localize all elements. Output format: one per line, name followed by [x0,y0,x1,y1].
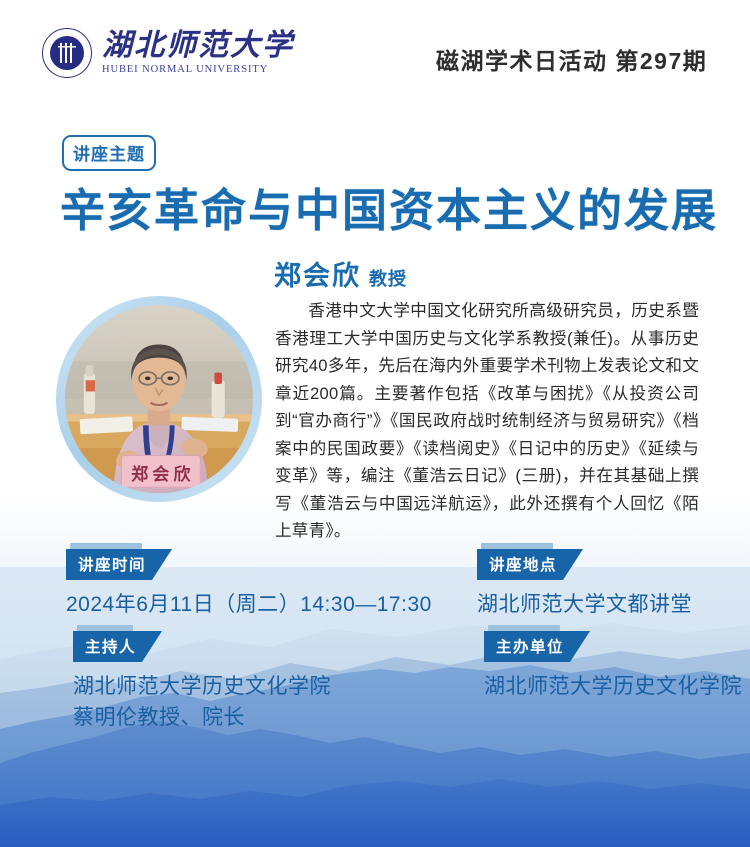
topic-badge: 讲座主题 [62,135,156,171]
university-logo-text: 湖北师范大学 HUBEI NORMAL UNIVERSITY [102,31,294,75]
ribbon-top-bar-time [70,543,142,549]
info-label-time: 讲座时间 [66,549,172,580]
university-name-en: HUBEI NORMAL UNIVERSITY [102,64,294,75]
speaker-photo-ring: 郑 会 欣 [56,296,262,502]
info-label-place: 讲座地点 [477,549,583,580]
speaker-photo: 郑 会 欣 [65,305,253,493]
info-label-organizer: 主办单位 [484,631,590,662]
speaker-name-line: 郑会欣教授 [274,254,407,293]
info-value-organizer: 湖北师范大学历史文化学院 [484,671,742,702]
info-label-host: 主持人 [73,631,162,662]
info-block-place: 讲座地点 湖北师范大学文都讲堂 [477,549,692,620]
info-value-place: 湖北师范大学文都讲堂 [477,589,692,620]
svg-text:郑 会 欣: 郑 会 欣 [131,464,190,484]
university-logo: 湖北师范大学 HUBEI NORMAL UNIVERSITY [42,28,294,78]
poster-header: 湖北师范大学 HUBEI NORMAL UNIVERSITY 磁湖学术日活动 第… [0,0,750,105]
speaker-bio: 香港中文大学中国文化研究所高级研究员，历史系暨香港理工大学中国历史与文化学系教授… [275,297,699,545]
ribbon-time: 讲座时间 [66,549,172,580]
ribbon-host: 主持人 [73,631,162,662]
info-value-host-line1: 湖北师范大学历史文化学院 [73,671,331,702]
university-seal-icon [42,28,92,78]
ribbon-organizer: 主办单位 [484,631,590,662]
ribbon-top-bar-host [77,625,133,631]
ribbon-top-bar-place [481,543,553,549]
info-value-host-line2: 蔡明伦教授、院长 [73,702,331,733]
speaker-name: 郑会欣 [274,261,361,291]
info-block-time: 讲座时间 2024年6月11日（周二）14:30—17:30 [66,549,432,620]
info-block-organizer: 主办单位 湖北师范大学历史文化学院 [484,631,742,702]
lecture-title: 辛亥革命与中国资本主义的发展 [60,174,718,239]
university-name-cn: 湖北师范大学 [102,31,294,61]
info-block-host: 主持人 湖北师范大学历史文化学院 蔡明伦教授、院长 [73,631,331,733]
ribbon-place: 讲座地点 [477,549,583,580]
speaker-academic-title: 教授 [369,269,407,289]
info-value-time: 2024年6月11日（周二）14:30—17:30 [66,589,432,620]
issue-line: 磁湖学术日活动 第297期 [436,42,707,76]
lecture-poster: 湖北师范大学 HUBEI NORMAL UNIVERSITY 磁湖学术日活动 第… [0,0,750,847]
ribbon-top-bar-organizer [488,625,560,631]
